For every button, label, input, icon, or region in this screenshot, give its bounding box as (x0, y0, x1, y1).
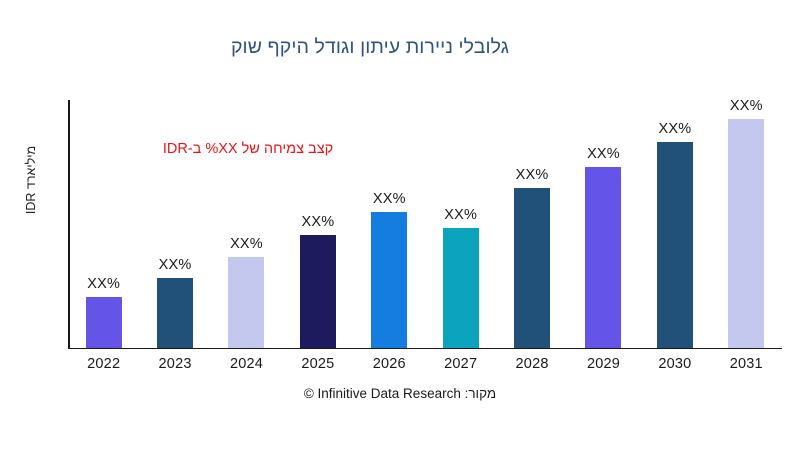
x-tick-2027: 2027 (425, 356, 496, 372)
bar-value-label: XX% (230, 236, 263, 252)
x-tick-2029: 2029 (568, 356, 639, 372)
plot-area: XX%XX%XX%XX%XX%XX%XX%XX%XX%XX% (68, 100, 782, 348)
bar-2028[interactable] (514, 188, 550, 348)
bar-2031[interactable] (728, 119, 764, 348)
bar-value-label: XX% (516, 167, 549, 183)
bar-2025[interactable] (300, 235, 336, 348)
bar-2024[interactable] (228, 257, 264, 348)
bar-group: XX% (568, 100, 639, 348)
x-tick-2025: 2025 (282, 356, 353, 372)
bar-value-label: XX% (587, 146, 620, 162)
chart-canvas: גלובלי ניירות עיתון וגודל היקף שוק קצב צ… (0, 0, 800, 450)
bar-value-label: XX% (301, 214, 334, 230)
bar-group: XX% (354, 100, 425, 348)
bar-value-label: XX% (730, 98, 763, 114)
bar-group: XX% (139, 100, 210, 348)
bar-2026[interactable] (371, 212, 407, 348)
x-tick-2023: 2023 (139, 356, 210, 372)
bar-2023[interactable] (157, 278, 193, 348)
bar-value-label: XX% (444, 207, 477, 223)
bar-value-label: XX% (373, 191, 406, 207)
bar-group: XX% (711, 100, 782, 348)
x-tick-2030: 2030 (639, 356, 710, 372)
x-tick-2031: 2031 (711, 356, 782, 372)
bar-group: XX% (496, 100, 567, 348)
bar-2027[interactable] (443, 228, 479, 348)
y-axis-title-container: מיליארד IDR (16, 120, 46, 240)
x-tick-2026: 2026 (354, 356, 425, 372)
chart-title: גלובלי ניירות עיתון וגודל היקף שוק (0, 36, 740, 59)
bar-group: XX% (282, 100, 353, 348)
bar-group: XX% (211, 100, 282, 348)
bar-group: XX% (639, 100, 710, 348)
x-tick-2024: 2024 (211, 356, 282, 372)
bar-value-label: XX% (658, 121, 691, 137)
y-axis-title: מיליארד IDR (24, 146, 38, 214)
source-note: מקור: Infinitive Data Research © (0, 386, 800, 401)
bar-value-label: XX% (159, 257, 192, 273)
bar-group: XX% (425, 100, 496, 348)
bar-2022[interactable] (86, 297, 122, 348)
bar-value-label: XX% (87, 276, 120, 292)
x-tick-2028: 2028 (496, 356, 567, 372)
bar-2030[interactable] (657, 142, 693, 348)
bar-2029[interactable] (585, 167, 621, 348)
x-tick-2022: 2022 (68, 356, 139, 372)
bar-group: XX% (68, 100, 139, 348)
